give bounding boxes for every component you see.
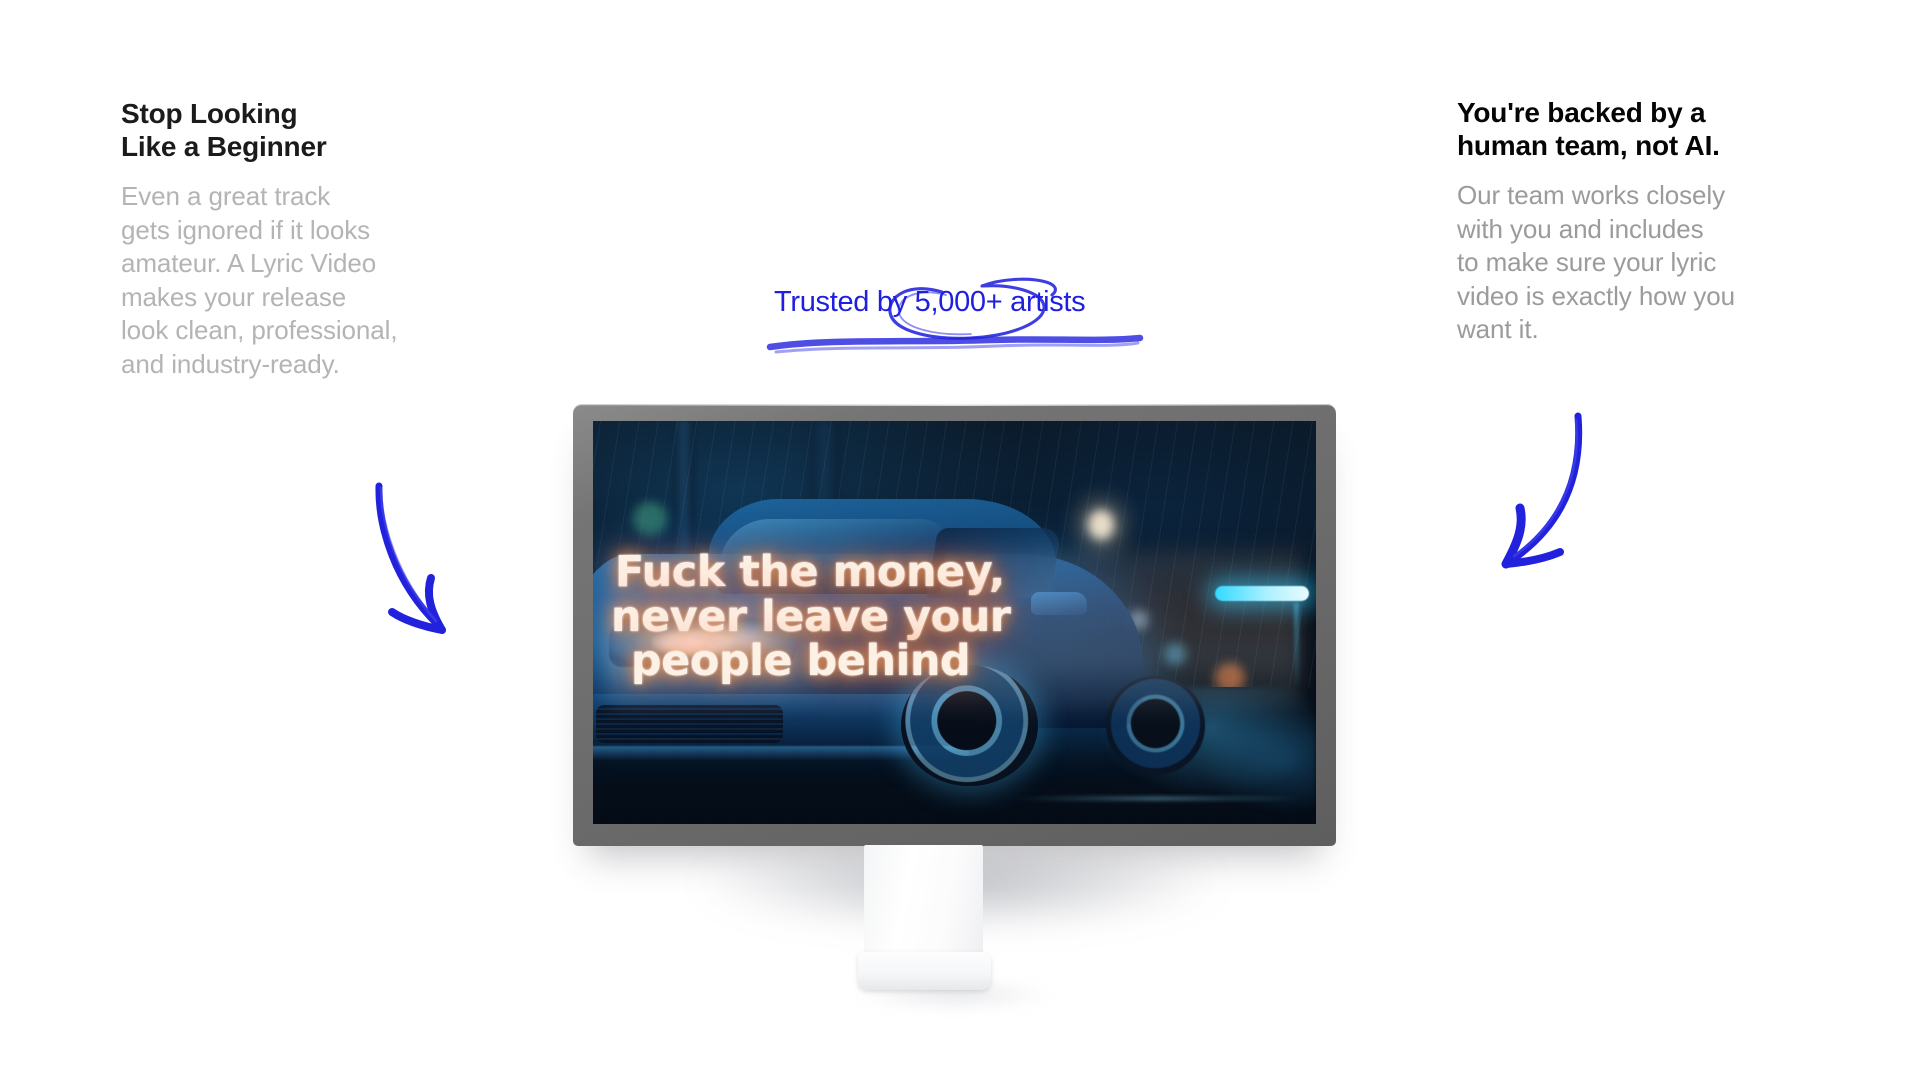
monitor-stand-base [858, 952, 991, 990]
page-canvas: Stop Looking Like a Beginner Even a grea… [0, 0, 1920, 1080]
left-curved-arrow-icon [368, 478, 498, 663]
left-body-text: Even a great track gets ignored if it lo… [121, 180, 501, 381]
monitor-screen[interactable]: Fuck the money, never leave your people … [593, 421, 1316, 824]
right-body-text: Our team works closely with you and incl… [1457, 179, 1837, 347]
right-curved-arrow-icon [1466, 408, 1606, 598]
trusted-badge: Trusted by 5,000+ artists [760, 268, 1160, 358]
lyric-video-frame: Fuck the money, never leave your people … [593, 421, 1316, 824]
left-heading: Stop Looking Like a Beginner [121, 97, 501, 163]
right-heading: You're backed by a human team, not AI. [1457, 96, 1837, 162]
monitor-device: Fuck the money, never leave your people … [573, 404, 1336, 846]
right-copy-block: You're backed by a human team, not AI. O… [1457, 96, 1837, 347]
monitor-stand-neck [864, 845, 983, 962]
trusted-badge-text: Trusted by 5,000+ artists [774, 286, 1085, 319]
film-grain-overlay [593, 421, 1316, 824]
left-copy-block: Stop Looking Like a Beginner Even a grea… [121, 97, 501, 381]
